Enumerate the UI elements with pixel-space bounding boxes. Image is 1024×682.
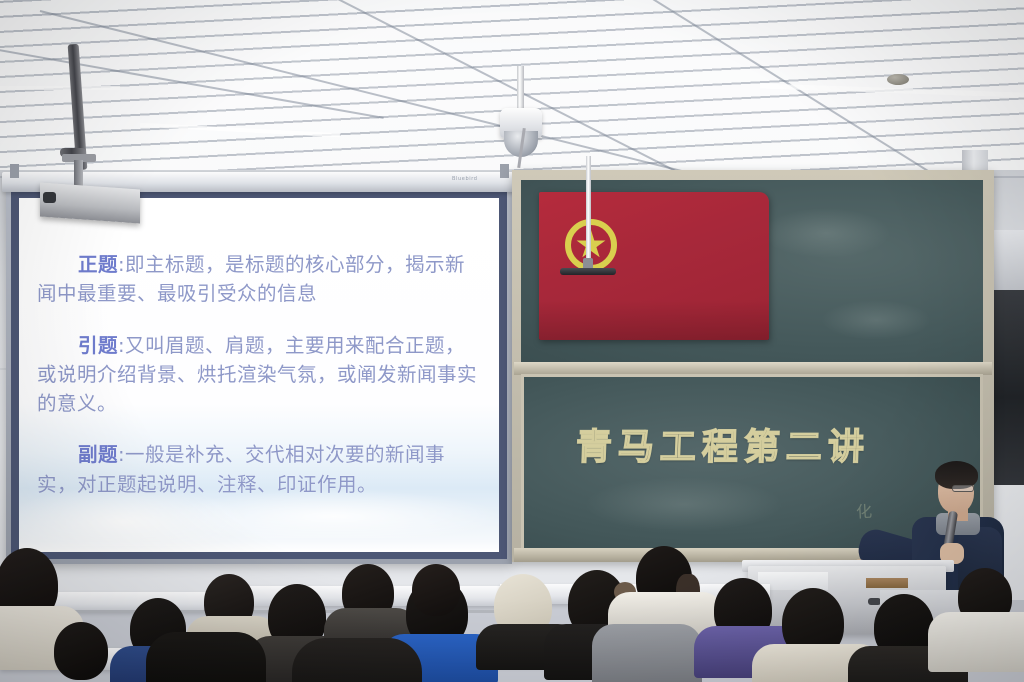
ceiling [0,0,1024,186]
projected-slide: 正题:即主标题，是标题的核心部分，揭示新闻中最重要、最吸引受众的信息 引题:又叫… [19,198,499,552]
student [292,638,422,682]
projector-icon [40,183,140,224]
student [146,632,266,682]
smoke-detector-icon [887,74,909,85]
student-coat [592,624,702,682]
student [196,574,266,640]
student [404,564,474,620]
student-coat [928,612,1024,672]
slide-colon: : [118,443,125,466]
slide-keyword: 副题 [78,443,118,466]
slide-keyword: 引题 [78,334,118,357]
chalk-smudge [584,477,784,532]
slide-paragraph-zhengti: 正题:即主标题，是标题的核心部分，揭示新闻中最重要、最吸引受众的信息 [37,250,483,309]
flag-hanging-rod [586,156,591,274]
chalk-smudge [821,300,931,340]
student [940,568,1024,668]
slide-colon: : [118,253,125,276]
ceiling-beam [0,86,120,90]
slide-paragraph-futi: 副题:一般是补充、交代相对次要的新闻事实，对正题起说明、注释、印证作用。 [37,440,483,499]
student [592,618,702,682]
glasses-icon [952,485,974,492]
slide-keyword: 正题 [78,253,118,276]
roller-bracket [10,164,19,178]
blackboard-chalk-title: 青马工程第二讲 [557,418,889,470]
student [36,622,134,682]
screen-brand-mark: Bluebird [452,176,478,182]
audience [0,545,1024,682]
flag-shadow [539,300,769,340]
slide-paragraph-yinti: 引题:又叫眉题、肩题，主要用来配合正题，或说明介绍背景、烘托渲染气氛，或阐发新闻… [37,331,483,419]
projector-lens-icon [43,192,56,203]
camera-mount-stem [517,66,524,114]
student-coat [146,632,266,682]
slide-colon: : [118,334,125,357]
classroom-photo: 正题:即主标题，是标题的核心部分，揭示新闻中最重要、最吸引受众的信息 引题:又叫… [0,0,1024,682]
roller-bracket [500,164,509,178]
wall-recess-top [990,230,1024,292]
student-head [412,564,460,616]
student-head [54,622,108,680]
student-coat [292,638,422,682]
flag-crossbar [560,268,616,275]
slide-text-body: 正题:即主标题，是标题的核心部分，揭示新闻中最重要、最吸引受众的信息 引题:又叫… [37,250,483,521]
ceiling-strip-panels [0,0,1024,186]
chalk-smudge [761,208,891,258]
